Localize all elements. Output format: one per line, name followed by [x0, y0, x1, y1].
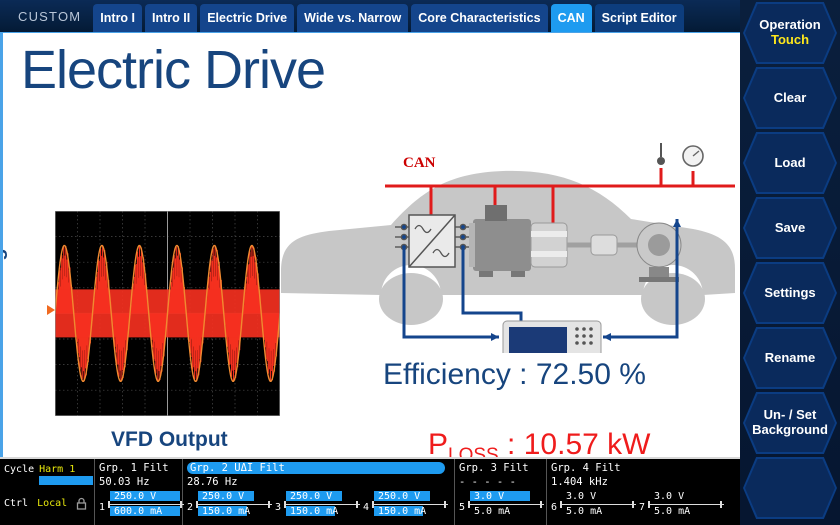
instrument-screen: CUSTOM Intro IIntro IIElectric DriveWide… [0, 0, 840, 525]
tab-script-editor[interactable]: Script Editor [595, 4, 684, 32]
softkey-un-set-background[interactable]: Un- / Set Background [743, 392, 837, 454]
softkey-rename[interactable]: Rename [743, 327, 837, 389]
group-4-header: Grp. 4 Filt [551, 462, 736, 474]
function-key-sidebar: OperationTouchClearLoadSaveSettingsRenam… [740, 0, 840, 525]
status-group-3[interactable]: Grp. 3 Filt - - - - - 53.0 V5.0 mA [455, 459, 547, 525]
cycle-bar [39, 476, 93, 485]
softkey-label: Save [775, 221, 805, 236]
channel-voltage: 250.0 V [284, 491, 358, 502]
channel-current: 600.0 mA [108, 506, 182, 517]
channel-6[interactable]: 63.0 V5.0 mA [551, 491, 634, 517]
group-2-frequency: 28.76 Hz [187, 476, 450, 488]
power-loss-value: 10.57 kW [524, 428, 651, 457]
softkey-sublabel: Touch [771, 33, 809, 48]
channel-voltage: 250.0 V [196, 491, 270, 502]
status-group-1[interactable]: Grp. 1 Filt 50.03 Hz 1250.0 V600.0 mA [95, 459, 183, 525]
softkey-label: Settings [764, 286, 815, 301]
channel-voltage: 3.0 V [560, 491, 634, 502]
group-1-header: Grp. 1 Filt [99, 462, 178, 474]
softkey-settings[interactable]: Settings [743, 262, 837, 324]
channel-7[interactable]: 73.0 V5.0 mA [639, 491, 722, 517]
inverter-icon [409, 215, 455, 267]
efficiency-value: 72.50 % [536, 358, 646, 391]
channel-4[interactable]: 4250.0 V150.0 mA [363, 491, 446, 517]
softkey-blank-7[interactable] [743, 457, 837, 519]
channel-number: 4 [363, 502, 369, 513]
power-loss-subscript: LOSS [448, 445, 499, 457]
channel-current: 5.0 mA [560, 506, 634, 517]
channel-voltage: 3.0 V [468, 491, 542, 502]
group-2-header: Grp. 2 UΔI Filt [187, 462, 445, 474]
scope-y-axis-label: Voltage V [0, 218, 9, 308]
channel-current: 150.0 mA [372, 506, 446, 517]
group-3-frequency: - - - - - [459, 476, 542, 488]
channel-5[interactable]: 53.0 V5.0 mA [459, 491, 542, 517]
ctrl-label: Ctrl [4, 498, 28, 509]
channel-3[interactable]: 3250.0 V150.0 mA [275, 491, 358, 517]
channel-number: 7 [639, 502, 645, 513]
tab-wide-vs-narrow[interactable]: Wide vs. Narrow [297, 4, 408, 32]
softkey-save[interactable]: Save [743, 197, 837, 259]
trigger-marker-icon [47, 305, 55, 315]
scope-canvas [55, 211, 280, 416]
channel-current: 150.0 mA [284, 506, 358, 517]
channel-number: 6 [551, 502, 557, 513]
tab-core-characteristics[interactable]: Core Characteristics [411, 4, 547, 32]
channel-voltage: 3.0 V [648, 491, 722, 502]
channel-voltage: 250.0 V [108, 491, 182, 502]
content-panel: Electric Drive CAN [0, 32, 740, 457]
group-1-frequency: 50.03 Hz [99, 476, 178, 488]
softkey-inner [745, 459, 835, 517]
ctrl-value: Local [37, 498, 67, 509]
softkey-label: Rename [765, 351, 816, 366]
scope-caption: VFD Output [111, 428, 228, 452]
status-cycle-ctrl[interactable]: Cycle Harm 1 Ctrl Local [0, 459, 95, 525]
lock-icon [76, 497, 87, 510]
power-loss-separator: : [499, 428, 524, 457]
channel-current: 5.0 mA [648, 506, 722, 517]
tab-bar: CUSTOM Intro IIntro IIElectric DriveWide… [0, 0, 740, 32]
mode-label: CUSTOM [6, 9, 93, 32]
tab-electric-drive[interactable]: Electric Drive [200, 4, 294, 32]
softkey-label: Operation [759, 18, 820, 33]
channel-current: 150.0 mA [196, 506, 270, 517]
status-group-2[interactable]: Grp. 2 UΔI Filt 28.76 Hz 2250.0 V150.0 m… [183, 459, 455, 525]
softkey-operation[interactable]: OperationTouch [743, 2, 837, 64]
tab-intro-i[interactable]: Intro I [93, 4, 142, 32]
page-title: Electric Drive [21, 43, 325, 97]
power-analyzer-icon [503, 321, 601, 353]
can-bus-label: CAN [403, 155, 436, 171]
power-loss-label: P [428, 428, 448, 457]
channel-number: 2 [187, 502, 193, 513]
channel-2[interactable]: 2250.0 V150.0 mA [187, 491, 270, 517]
cycle-value: Harm 1 [39, 464, 93, 475]
efficiency-label: Efficiency : [383, 358, 536, 391]
channel-voltage: 250.0 V [372, 491, 446, 502]
status-bar: Cycle Harm 1 Ctrl Local Grp. 1 Filt 50.0… [0, 457, 740, 525]
scope-display[interactable] [55, 211, 280, 416]
softkey-load[interactable]: Load [743, 132, 837, 194]
channel-number: 1 [99, 502, 105, 513]
tab-intro-ii[interactable]: Intro II [145, 4, 197, 32]
group-3-header: Grp. 3 Filt [459, 462, 542, 474]
power-loss-readout: PLOSS : 10.57 kW [428, 428, 650, 457]
powertrain-diagram: CAN [273, 123, 740, 353]
channel-1[interactable]: 1250.0 V600.0 mA [99, 491, 182, 517]
channel-number: 3 [275, 502, 281, 513]
softkey-clear[interactable]: Clear [743, 67, 837, 129]
status-group-4[interactable]: Grp. 4 Filt 1.404 kHz 63.0 V5.0 mA 73.0 … [547, 459, 740, 525]
channel-current: 5.0 mA [468, 506, 542, 517]
channel-number: 5 [459, 502, 465, 513]
efficiency-readout: Efficiency : 72.50 % [383, 358, 646, 392]
tab-can[interactable]: CAN [551, 4, 592, 32]
softkey-label: Un- / Set Background [752, 408, 828, 438]
softkey-label: Clear [774, 91, 807, 106]
group-4-frequency: 1.404 kHz [551, 476, 736, 488]
cycle-label: Cycle [4, 464, 34, 475]
softkey-label: Load [774, 156, 805, 171]
